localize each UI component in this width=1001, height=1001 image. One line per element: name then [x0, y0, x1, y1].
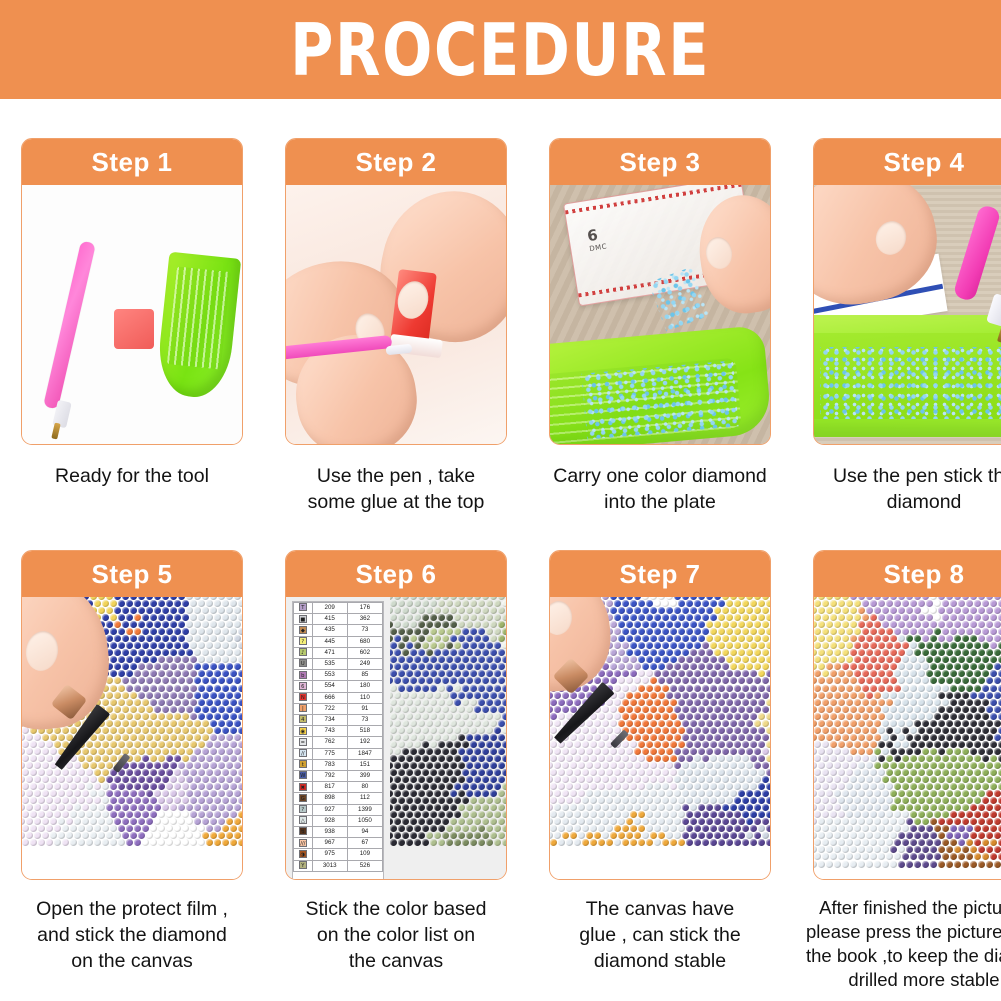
- step-card-2: Step 2 Use the pen , take some glue at t…: [264, 99, 528, 528]
- legend-dmc-code: 938: [312, 827, 347, 838]
- glue-square-icon: [114, 309, 154, 349]
- legend-row: △9281050: [294, 815, 383, 826]
- legend-count: 526: [347, 860, 382, 871]
- legend-color-swatch: ✖: [299, 783, 307, 791]
- legend-row: N666110: [294, 692, 383, 703]
- step-7-card: Step 7: [549, 550, 771, 880]
- caption-line: The canvas have: [542, 896, 778, 922]
- caption-line: into the plate: [542, 489, 778, 515]
- step-8-badge: Step 8: [814, 551, 1001, 597]
- pen-collar-icon: [986, 293, 1001, 327]
- step-2-caption: Use the pen , take some glue at the top: [278, 463, 514, 515]
- caption-line: and stick the diamond: [14, 922, 250, 948]
- color-legend-table: T209176■415362◆43573?445680♪471602U53524…: [292, 601, 384, 879]
- legend-color-swatch: ◆: [299, 626, 307, 634]
- legend-dmc-code: 775: [312, 748, 347, 759]
- legend-symbol-cell: ///: [294, 838, 313, 849]
- caption-line: the canvas: [278, 948, 514, 974]
- legend-count: 680: [347, 636, 382, 647]
- caption-line: Use the pen stick the: [806, 463, 1001, 489]
- step-card-5: Step 5 Open the protect film , and stick…: [0, 528, 264, 1001]
- procedure-infographic: PROCEDURE Step 1 Ready for the tool: [0, 0, 1001, 1001]
- legend-count: 80: [347, 782, 382, 793]
- legend-color-swatch: ↯: [299, 827, 307, 835]
- legend-color-swatch: ?: [299, 637, 307, 645]
- caption-line: on the color list on: [278, 922, 514, 948]
- blue-diamonds-icon: [581, 361, 738, 440]
- step-5-badge: Step 5: [22, 551, 242, 597]
- legend-dmc-code: 783: [312, 759, 347, 770]
- legend-row: ◉743518: [294, 726, 383, 737]
- legend-count: 112: [347, 793, 382, 804]
- legend-color-swatch: //: [299, 749, 307, 757]
- caption-line: Ready for the tool: [14, 463, 250, 489]
- legend-count: 176: [347, 603, 382, 614]
- legend-count: 1399: [347, 804, 382, 815]
- caption-line: drilled more stable: [806, 968, 1001, 992]
- legend-symbol-cell: T: [294, 603, 313, 614]
- legend-dmc-code: 445: [312, 636, 347, 647]
- caption-line: diamond: [806, 489, 1001, 515]
- legend-dmc-code: 553: [312, 670, 347, 681]
- step-6-caption: Stick the color based on the color list …: [278, 896, 514, 974]
- legend-dmc-code: 3013: [312, 860, 347, 871]
- legend-dmc-code: 471: [312, 647, 347, 658]
- legend-symbol-cell: G: [294, 793, 313, 804]
- pink-pen-icon: [43, 240, 96, 409]
- step-8-caption: After finished the picture , please pres…: [806, 896, 1001, 992]
- legend-symbol-cell: ?: [294, 804, 313, 815]
- legend-row: 473473: [294, 715, 383, 726]
- legend-dmc-code: 743: [312, 726, 347, 737]
- step-8-image: [814, 597, 1001, 879]
- legend-dmc-code: 927: [312, 804, 347, 815]
- legend-count: 518: [347, 726, 382, 737]
- step-3-image: 6 DMC: [550, 185, 770, 444]
- legend-symbol-cell: ↯: [294, 827, 313, 838]
- legend-color-swatch: ///: [299, 839, 307, 847]
- legend-symbol-cell: ■: [294, 614, 313, 625]
- legend-symbol-cell: ♪: [294, 647, 313, 658]
- legend-dmc-code: 209: [312, 603, 347, 614]
- step-1-badge: Step 1: [22, 139, 242, 185]
- legend-count: 110: [347, 692, 382, 703]
- legend-count: 180: [347, 681, 382, 692]
- legend-symbol-cell: W: [294, 771, 313, 782]
- page-header-banner: PROCEDURE: [0, 0, 1001, 99]
- diamond-canvas-area: [390, 597, 506, 879]
- legend-color-swatch: G: [299, 794, 307, 802]
- legend-dmc-code: 722: [312, 703, 347, 714]
- step-card-4: Step 4 Use the pen stick the diamond: [792, 99, 1001, 528]
- step-6-card: Step 6 T209176■415362◆43573?445680♪47160…: [285, 550, 507, 880]
- legend-color-swatch: ?: [299, 805, 307, 813]
- caption-line: the book ,to keep the diamond: [806, 944, 1001, 968]
- legend-color-swatch: ■: [299, 615, 307, 623]
- caption-line: Carry one color diamond: [542, 463, 778, 489]
- legend-count: 1847: [347, 748, 382, 759]
- legend-color-swatch: 4: [299, 715, 307, 723]
- legend-row: ?9271399: [294, 804, 383, 815]
- legend-symbol-cell: △: [294, 815, 313, 826]
- legend-color-swatch: N: [299, 693, 307, 701]
- step-1-image: [22, 185, 242, 444]
- legend-color-swatch: ◑: [299, 850, 307, 858]
- step-1-caption: Ready for the tool: [14, 463, 250, 489]
- caption-line: some glue at the top: [278, 489, 514, 515]
- legend-symbol-cell: =: [294, 737, 313, 748]
- legend-dmc-code: 435: [312, 625, 347, 636]
- step-7-image: [550, 597, 770, 879]
- step-7-badge: Step 7: [550, 551, 770, 597]
- legend-dmc-code: 415: [312, 614, 347, 625]
- legend-symbol-cell: 6: [294, 681, 313, 692]
- legend-row: t783151: [294, 759, 383, 770]
- legend-row: ✖81780: [294, 782, 383, 793]
- step-5-card: Step 5: [21, 550, 243, 880]
- legend-color-swatch: T: [299, 603, 307, 611]
- legend-symbol-cell: ✖: [294, 782, 313, 793]
- caption-line: Open the protect film ,: [14, 896, 250, 922]
- page-title: PROCEDURE: [290, 14, 710, 86]
- legend-row: T209176: [294, 603, 383, 614]
- legend-count: 192: [347, 737, 382, 748]
- legend-row: ///96767: [294, 838, 383, 849]
- step-4-badge: Step 4: [814, 139, 1001, 185]
- legend-count: 399: [347, 771, 382, 782]
- bag-number: 6: [586, 226, 599, 245]
- diamond-canvas-mosaic: [814, 597, 1001, 879]
- step-8-card: Step 8: [813, 550, 1001, 880]
- step-1-card: Step 1: [21, 138, 243, 445]
- legend-row: G898112: [294, 793, 383, 804]
- legend-count: 249: [347, 659, 382, 670]
- legend-symbol-cell: |: [294, 703, 313, 714]
- bag-sublabel: DMC: [589, 242, 608, 253]
- legend-row: ↯93894: [294, 827, 383, 838]
- legend-row: Y3013526: [294, 860, 383, 871]
- bag-number-label: 6 DMC: [586, 225, 608, 253]
- caption-line: glue , can stick the: [542, 922, 778, 948]
- legend-color-swatch: t: [299, 760, 307, 768]
- legend-count: 602: [347, 647, 382, 658]
- legend-row: b55385: [294, 670, 383, 681]
- legend-color-swatch: U: [299, 659, 307, 667]
- legend-symbol-cell: //: [294, 748, 313, 759]
- legend-row: //7751847: [294, 748, 383, 759]
- legend-row: 6554180: [294, 681, 383, 692]
- legend-count: 67: [347, 838, 382, 849]
- step-5-image: [22, 597, 242, 879]
- step-card-7: Step 7 The canvas have glue , can stick …: [528, 528, 792, 1001]
- diamond-canvas-mosaic: [390, 597, 506, 879]
- caption-line: please press the picture under: [806, 920, 1001, 944]
- legend-dmc-code: 734: [312, 715, 347, 726]
- legend-row: ◑975109: [294, 849, 383, 860]
- step-4-caption: Use the pen stick the diamond: [806, 463, 1001, 515]
- step-2-card: Step 2: [285, 138, 507, 445]
- green-tray-icon: [155, 252, 241, 401]
- legend-symbol-cell: 4: [294, 715, 313, 726]
- caption-line: Use the pen , take: [278, 463, 514, 489]
- legend-row: ♪471602: [294, 647, 383, 658]
- legend-color-swatch: |: [299, 704, 307, 712]
- caption-line: Stick the color based: [278, 896, 514, 922]
- step-2-badge: Step 2: [286, 139, 506, 185]
- legend-count: 73: [347, 715, 382, 726]
- legend-color-swatch: △: [299, 816, 307, 824]
- legend-row: =762192: [294, 737, 383, 748]
- step-card-8: Step 8 After finished the picture , plea…: [792, 528, 1001, 1001]
- legend-row: U535249: [294, 659, 383, 670]
- legend-symbol-cell: t: [294, 759, 313, 770]
- legend-count: 109: [347, 849, 382, 860]
- step-4-card: Step 4: [813, 138, 1001, 445]
- legend-dmc-code: 554: [312, 681, 347, 692]
- legend-count: 85: [347, 670, 382, 681]
- step-3-card: Step 3 6 DMC: [549, 138, 771, 445]
- pink-pen-icon: [952, 204, 1001, 302]
- legend-row: |72291: [294, 703, 383, 714]
- step-card-6: Step 6 T209176■415362◆43573?445680♪47160…: [264, 528, 528, 1001]
- legend-dmc-code: 666: [312, 692, 347, 703]
- legend-dmc-code: 928: [312, 815, 347, 826]
- legend-table: T209176■415362◆43573?445680♪471602U53524…: [293, 602, 383, 872]
- step-7-caption: The canvas have glue , can stick the dia…: [542, 896, 778, 974]
- legend-color-swatch: ♪: [299, 648, 307, 656]
- legend-dmc-code: 817: [312, 782, 347, 793]
- legend-symbol-cell: ◆: [294, 625, 313, 636]
- legend-color-swatch: W: [299, 771, 307, 779]
- legend-row: W792399: [294, 771, 383, 782]
- legend-symbol-cell: Y: [294, 860, 313, 871]
- legend-count: 94: [347, 827, 382, 838]
- legend-dmc-code: 975: [312, 849, 347, 860]
- legend-symbol-cell: ?: [294, 636, 313, 647]
- step-4-image: [814, 185, 1001, 444]
- step-6-badge: Step 6: [286, 551, 506, 597]
- legend-row: ◆43573: [294, 625, 383, 636]
- legend-count: 73: [347, 625, 382, 636]
- step-card-3: Step 3 6 DMC Carry one color: [528, 99, 792, 528]
- caption-line: After finished the picture ,: [806, 896, 1001, 920]
- legend-dmc-code: 535: [312, 659, 347, 670]
- legend-color-swatch: ◉: [299, 727, 307, 735]
- step-card-1: Step 1 Ready for the tool: [0, 99, 264, 528]
- legend-color-swatch: Y: [299, 861, 307, 869]
- legend-symbol-cell: b: [294, 670, 313, 681]
- step-2-image: [286, 185, 506, 444]
- caption-line: on the canvas: [14, 948, 250, 974]
- legend-count: 91: [347, 703, 382, 714]
- legend-count: 362: [347, 614, 382, 625]
- caption-line: diamond stable: [542, 948, 778, 974]
- step-3-caption: Carry one color diamond into the plate: [542, 463, 778, 515]
- legend-dmc-code: 967: [312, 838, 347, 849]
- legend-dmc-code: 762: [312, 737, 347, 748]
- blue-diamonds-icon: [820, 347, 1001, 419]
- legend-symbol-cell: ◉: [294, 726, 313, 737]
- legend-dmc-code: 898: [312, 793, 347, 804]
- legend-symbol-cell: ◑: [294, 849, 313, 860]
- legend-symbol-cell: U: [294, 659, 313, 670]
- legend-row: ?445680: [294, 636, 383, 647]
- steps-grid: Step 1 Ready for the tool Step 2: [0, 99, 1001, 1001]
- legend-row: ■415362: [294, 614, 383, 625]
- legend-color-swatch: b: [299, 671, 307, 679]
- step-6-image: T209176■415362◆43573?445680♪471602U53524…: [286, 597, 506, 879]
- legend-color-swatch: 6: [299, 682, 307, 690]
- legend-count: 1050: [347, 815, 382, 826]
- legend-color-swatch: =: [299, 738, 307, 746]
- legend-count: 151: [347, 759, 382, 770]
- legend-dmc-code: 792: [312, 771, 347, 782]
- legend-symbol-cell: N: [294, 692, 313, 703]
- step-3-badge: Step 3: [550, 139, 770, 185]
- step-5-caption: Open the protect film , and stick the di…: [14, 896, 250, 974]
